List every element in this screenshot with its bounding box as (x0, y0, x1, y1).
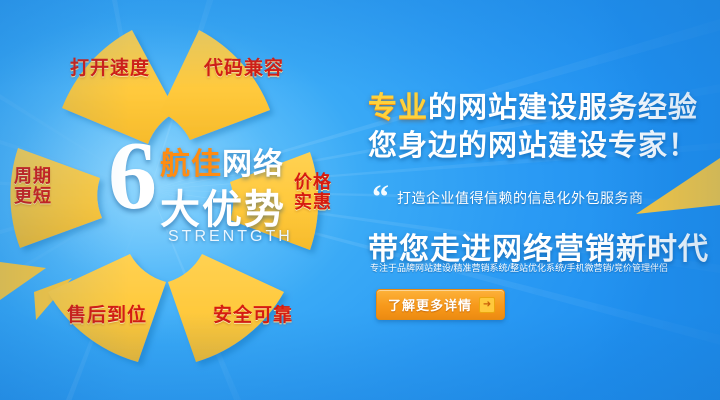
banner-root: 打开速度 代码兼容 周期 更短 价格 实惠 售后到位 安全可靠 6 航佳网络 大… (0, 0, 720, 400)
vignette-overlay (0, 0, 720, 400)
